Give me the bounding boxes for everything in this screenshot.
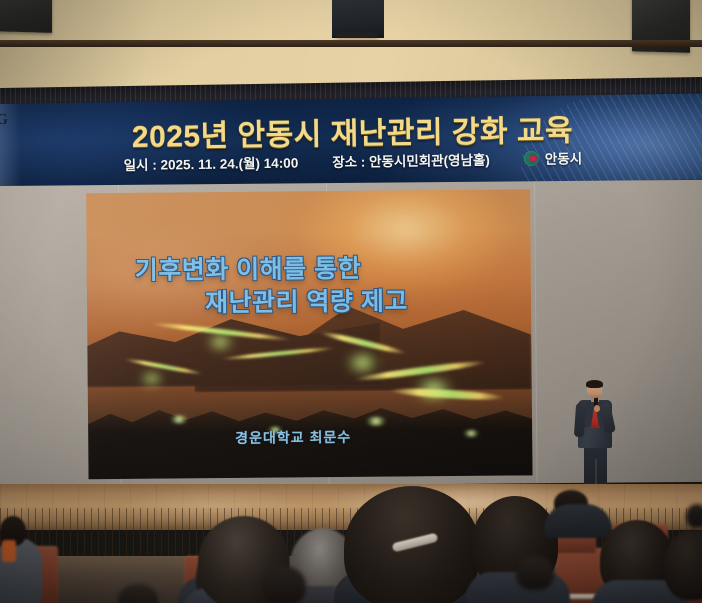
slide-presenter-label: 경운대학교 최문수 [88, 425, 532, 449]
event-banner: G 2025년 안동시 재난관리 강화 교육 일시 : 2025. 11. 24… [0, 93, 702, 190]
stage-edge-trim [0, 40, 702, 47]
screen-seam-3 [534, 181, 538, 483]
presenter-hair [586, 380, 603, 388]
ceiling-panel-left [0, 0, 52, 33]
banner-date: 일시 : 2025. 11. 24.(월) 14:00 [124, 151, 299, 174]
andong-city-logo-icon [524, 150, 539, 165]
audience-head-i [262, 566, 306, 603]
presenter-hand [594, 405, 600, 412]
wall-speaker-icon [332, 0, 384, 38]
auditorium-photo: G 2025년 안동시 재난관리 강화 교육 일시 : 2025. 11. 24… [0, 0, 702, 603]
banner-organization-label: 안동시 [545, 147, 583, 168]
slide-title-line2: 재난관리 역량 제고 [135, 284, 531, 320]
audience-head-l [686, 504, 702, 528]
audience-body-f [544, 504, 612, 538]
audience-head-j [516, 556, 554, 590]
banner-organization: 안동시 [524, 147, 583, 168]
projected-slide: 기후변화 이해를 통한 재난관리 역량 제고 경운대학교 최문수 [86, 189, 532, 479]
banner-place: 장소 : 안동시민회관(영남홀) [332, 149, 490, 171]
audience-orange-bag [2, 540, 16, 562]
presenter-figure [566, 381, 624, 493]
slide-title: 기후변화 이해를 통한 재난관리 역량 제고 [87, 251, 532, 321]
slide-title-line1: 기후변화 이해를 통한 [135, 255, 362, 285]
